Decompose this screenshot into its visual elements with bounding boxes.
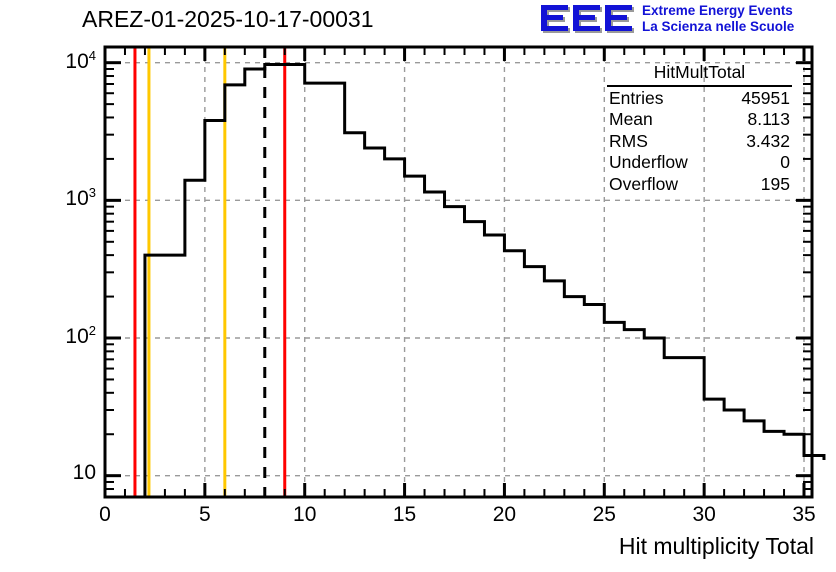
- x-axis-title: Hit multiplicity Total: [619, 533, 814, 560]
- y-tick-label: 104: [65, 48, 96, 74]
- stats-value: 45951: [741, 88, 792, 110]
- stats-row: RMS3.432: [607, 131, 792, 153]
- stats-value: 8.113: [748, 109, 793, 131]
- x-tick-label: 10: [275, 503, 335, 527]
- stats-row: Overflow195: [607, 174, 792, 196]
- y-tick-label: 102: [65, 323, 96, 349]
- y-tick-label: 10: [73, 461, 96, 485]
- stats-value: 195: [761, 174, 792, 196]
- stats-key: Underflow: [607, 152, 688, 174]
- stats-row: Entries45951: [607, 88, 792, 110]
- stats-key: Overflow: [607, 174, 678, 196]
- stats-row: Underflow0: [607, 152, 792, 174]
- x-tick-label: 20: [474, 503, 534, 527]
- x-tick-label: 35: [774, 503, 834, 527]
- stats-title: HitMultTotal: [607, 62, 792, 85]
- x-tick-label: 5: [175, 503, 235, 527]
- stats-value: 0: [780, 152, 792, 174]
- y-tick-label: 103: [65, 185, 96, 211]
- stats-box: HitMultTotal Entries45951Mean8.113RMS3.4…: [607, 62, 792, 195]
- stats-key: RMS: [607, 131, 648, 153]
- stats-key: Mean: [607, 109, 653, 131]
- stats-divider: [607, 85, 792, 87]
- x-tick-label: 15: [375, 503, 435, 527]
- x-tick-label: 30: [674, 503, 734, 527]
- stats-row: Mean8.113: [607, 109, 792, 131]
- x-tick-label: 0: [75, 503, 135, 527]
- stats-key: Entries: [607, 88, 663, 110]
- stats-value: 3.432: [746, 131, 792, 153]
- x-tick-label: 25: [574, 503, 634, 527]
- marker-lines: [135, 47, 285, 497]
